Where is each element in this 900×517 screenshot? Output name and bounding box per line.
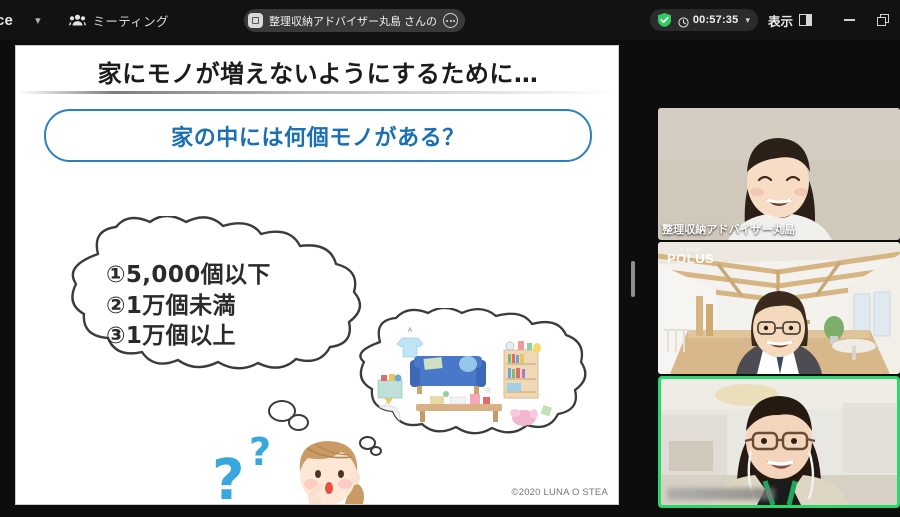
view-layout-button[interactable]: 表示 <box>768 11 812 30</box>
question-mark-small-icon: ? <box>249 430 271 474</box>
options-list: ①5,000個以下 ②1万個未満 ③1万個以上 <box>106 260 271 352</box>
slide-copyright: ©2020 LUNA O STEA <box>512 487 608 498</box>
video-tile-2[interactable]: AI GROUP POLUS ポラス <box>658 242 900 374</box>
minimize-icon <box>844 19 855 21</box>
meeting-status-pill[interactable]: 00:57:35 ▾ <box>650 9 758 31</box>
video-tile-1[interactable]: 整理収納アドバイザー丸島 <box>658 108 900 240</box>
sharing-indicator-chip[interactable]: 整理収納アドバイザー丸島 さんの <box>244 9 465 32</box>
shared-screen-slide[interactable]: 家にモノが増えないようにするために… 家の中には何個モノがある？ ①5,000個… <box>15 45 619 505</box>
window-title-bar: ce ▾ ミーティング 整理収納アドバイザー丸島 さんの <box>0 0 900 40</box>
layout-icon <box>799 14 812 26</box>
people-icon[interactable] <box>69 14 86 26</box>
question-box: 家の中には何個モノがある？ <box>44 109 592 162</box>
restore-button[interactable] <box>866 0 900 40</box>
chevron-down-icon[interactable]: ▾ <box>35 14 41 27</box>
panel-splitter[interactable] <box>622 40 644 517</box>
clock-icon <box>678 15 689 26</box>
option-3: ③1万個以上 <box>106 321 271 352</box>
titlebar-left-group: ce ▾ ミーティング <box>0 0 169 40</box>
title-divider <box>18 91 618 94</box>
drag-handle-icon[interactable] <box>631 261 635 297</box>
video-tile-3-active-speaker[interactable] <box>658 376 900 508</box>
thinking-woman-illustration <box>271 428 381 505</box>
question-text: 家の中には何個モノがある？ <box>171 120 465 152</box>
meeting-timer: 00:57:35 <box>678 14 739 26</box>
shield-check-icon <box>658 13 671 27</box>
chevron-down-icon[interactable]: ▾ <box>745 15 750 26</box>
slide-title: 家にモノが増えないようにするために… <box>16 54 619 89</box>
view-label: 表示 <box>768 11 793 30</box>
option-1: ①5,000個以下 <box>106 260 271 291</box>
question-mark-large-icon: ? <box>212 448 244 505</box>
minimize-button[interactable] <box>832 0 866 40</box>
titlebar-right-group: 00:57:35 ▾ 表示 <box>650 0 900 40</box>
sharing-label: 整理収納アドバイザー丸島 さんの <box>269 13 437 29</box>
participant-video-rail: 整理収納アドバイザー丸島 <box>650 40 900 517</box>
more-options-icon[interactable] <box>443 13 458 28</box>
participant-name-3-blurred <box>667 488 775 500</box>
meeting-stage: 家にモノが増えないようにするために… 家の中には何個モノがある？ ①5,000個… <box>0 40 900 517</box>
thought-cloud-living-room-shape <box>346 308 591 453</box>
watermark-label: POLUS <box>667 252 714 265</box>
participant-name-1: 整理収納アドバイザー丸島 <box>662 221 795 237</box>
restore-window-icon <box>877 14 889 26</box>
app-name-label: ce <box>0 12 13 29</box>
screen-share-icon <box>248 13 263 28</box>
meeting-label[interactable]: ミーティング <box>93 11 169 30</box>
option-2: ②1万個未満 <box>106 291 271 322</box>
meeting-window: ce ▾ ミーティング 整理収納アドバイザー丸島 さんの <box>0 0 900 517</box>
virtual-background-watermark: AI GROUP POLUS ポラス <box>667 248 714 271</box>
timer-value: 00:57:35 <box>693 14 739 26</box>
